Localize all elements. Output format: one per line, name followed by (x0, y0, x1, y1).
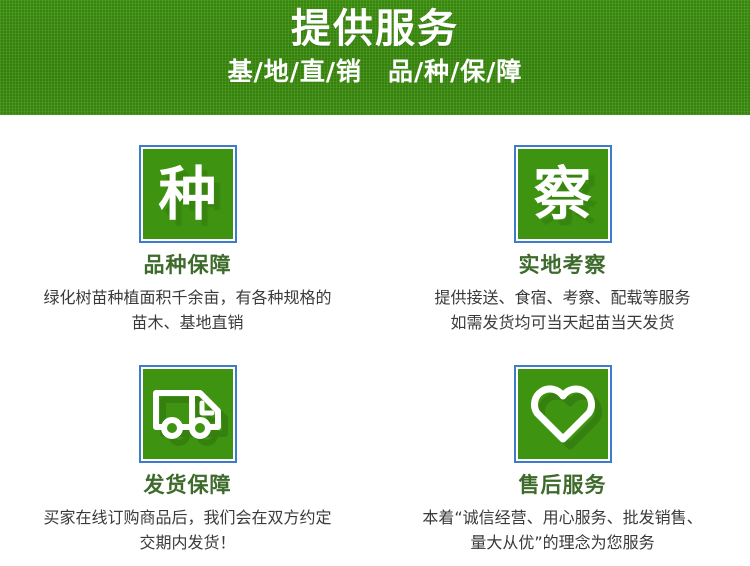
feature-row-top: 种 种 品种保障 绿化树苗种植面积千余亩，有各种规格的 苗木、基地直销 察 察 … (0, 115, 750, 335)
icon-frame-after-sales[interactable] (514, 365, 612, 463)
icon-tile-variety: 种 种 (143, 149, 233, 239)
delivery-truck-icon (143, 369, 233, 459)
page-title: 提供服务 (0, 6, 750, 52)
icon-tile-after-sales (518, 369, 608, 459)
feature-desc-after-sales: 本着“诚信经营、用心服务、批发销售、 量大从优”的理念为您服务 (375, 505, 750, 555)
feature-desc-shipping: 买家在线订购商品后，我们会在双方约定 交期内发货！ (0, 505, 375, 555)
banner-content: 提供服务 基/地/直/销 品/种/保/障 (0, 6, 750, 89)
feature-label-shipping: 发货保障 (0, 472, 375, 498)
icon-frame-shipping[interactable] (139, 365, 237, 463)
feature-desc-site-visit: 提供接送、食宿、考察、配载等服务 如需发货均可当天起苗当天发货 (375, 285, 750, 335)
feature-label-variety: 品种保障 (0, 252, 375, 278)
service-promo-page: 提供服务 基/地/直/销 品/种/保/障 种 种 品种保障 绿化树苗种植面积千余… (0, 0, 750, 566)
character-zhong-icon: 种 (143, 164, 233, 224)
features-grid: 种 种 品种保障 绿化树苗种植面积千余亩，有各种规格的 苗木、基地直销 察 察 … (0, 115, 750, 555)
icon-frame-variety[interactable]: 种 种 (139, 145, 237, 243)
feature-card-site-visit[interactable]: 察 察 实地考察 提供接送、食宿、考察、配载等服务 如需发货均可当天起苗当天发货 (375, 115, 750, 335)
banner-subtitle: 基/地/直/销 品/种/保/障 (0, 55, 750, 89)
feature-label-after-sales: 售后服务 (375, 472, 750, 498)
heart-icon (518, 369, 608, 459)
icon-tile-shipping (143, 369, 233, 459)
feature-desc-variety: 绿化树苗种植面积千余亩，有各种规格的 苗木、基地直销 (0, 285, 375, 335)
feature-label-site-visit: 实地考察 (375, 252, 750, 278)
feature-card-after-sales[interactable]: 售后服务 本着“诚信经营、用心服务、批发销售、 量大从优”的理念为您服务 (375, 335, 750, 555)
character-cha-icon: 察 (518, 164, 608, 224)
page-banner: 提供服务 基/地/直/销 品/种/保/障 (0, 0, 750, 115)
feature-row-bottom: 发货保障 买家在线订购商品后，我们会在双方约定 交期内发货！ (0, 335, 750, 555)
feature-card-variety[interactable]: 种 种 品种保障 绿化树苗种植面积千余亩，有各种规格的 苗木、基地直销 (0, 115, 375, 335)
icon-tile-site-visit: 察 察 (518, 149, 608, 239)
icon-frame-site-visit[interactable]: 察 察 (514, 145, 612, 243)
feature-card-shipping[interactable]: 发货保障 买家在线订购商品后，我们会在双方约定 交期内发货！ (0, 335, 375, 555)
